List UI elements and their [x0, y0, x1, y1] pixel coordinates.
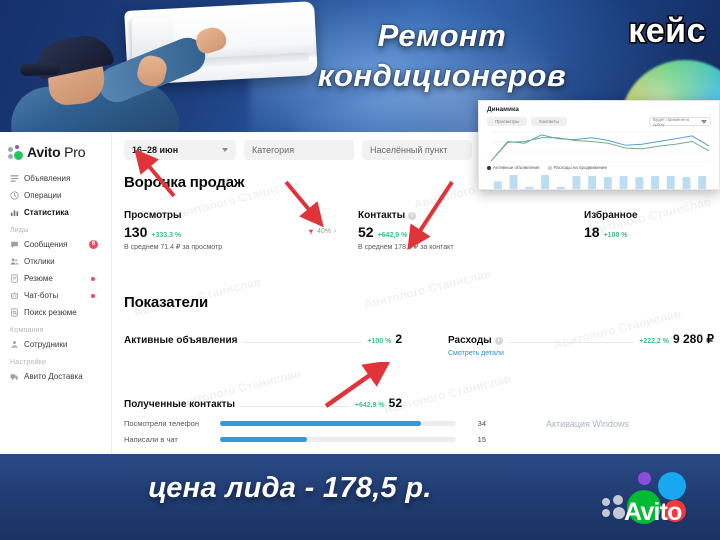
screenshot-root: Ремонт кондиционеров кейс Avito Pro Объя…: [0, 0, 720, 540]
metric-favorites: Избранное 18 +100 %: [584, 210, 714, 240]
sidebar-item-statistika[interactable]: Статистика: [0, 204, 112, 221]
chart-legend: Активные объявления Расходы на продвижен…: [487, 165, 607, 170]
sidebar-item-avito-dostavka[interactable]: Авито Доставка: [0, 368, 112, 385]
breakdown-row-phone: Посмотрели телефон 34: [124, 419, 486, 428]
dynamics-bar-chart: [485, 173, 715, 190]
metric-delta: +642,9 %: [378, 232, 408, 239]
metric-value: 18: [584, 224, 600, 240]
indicator-label: Активные объявления: [124, 335, 237, 346]
indicator-delta: +642,9 %: [355, 402, 385, 409]
clock-icon: [10, 191, 19, 200]
chevron-down-icon: [222, 148, 228, 152]
chart-metric-select[interactable]: Будет применено сразу: [649, 117, 711, 126]
indicator-label: Расходы i: [448, 335, 503, 346]
sidebar-group-settings: Настройки: [0, 353, 112, 368]
indicator-delta: +100 %: [367, 338, 391, 345]
metric-subtext: В среднем 178.5 ₽ за контакт: [358, 243, 578, 251]
period-filter-dropdown[interactable]: 16–28 июн: [124, 140, 236, 160]
info-icon[interactable]: i: [408, 212, 416, 220]
dynamics-chart-panel: Динамика Просмотры Контакты Будет примен…: [478, 100, 720, 190]
avito-logo: Avito: [602, 468, 710, 528]
sidebar-label: Чат-боты: [24, 291, 58, 300]
people-icon: [10, 257, 19, 266]
funnel-heading: Воронка продаж: [124, 174, 244, 191]
conversion-arrow-icon: ›: [334, 228, 336, 235]
breakdown-value: 34: [456, 419, 486, 428]
funnel-icon: [308, 229, 314, 235]
breakdown-row-chat: Написали в чат 15: [124, 435, 486, 444]
filter-bar: 16–28 июн Категория Населённый пункт: [124, 140, 472, 160]
indicator-received-contacts: Полученные контакты +642,9 % 52: [124, 396, 402, 410]
indicator-value: 9 280 ₽: [673, 332, 714, 346]
avito-logo-wordmark: Avito: [624, 498, 682, 527]
chart-tab-contacts[interactable]: Контакты: [531, 117, 567, 126]
case-badge: кейс: [628, 12, 706, 51]
chatbots-notification-dot: [91, 294, 95, 298]
metric-title: Просмотры: [124, 210, 334, 221]
indicator-leader-line: [240, 406, 350, 407]
breakdown-value: 15: [456, 435, 486, 444]
employees-icon: [10, 340, 19, 349]
search-document-icon: [10, 308, 19, 317]
sidebar-label: Отклики: [24, 257, 55, 266]
breakdown-bar-fill: [220, 421, 421, 426]
technician-photo: [0, 0, 300, 132]
sidebar-label: Сообщения: [24, 240, 67, 249]
breakdown-bar-track: [220, 421, 456, 426]
metric-value: 52: [358, 224, 374, 240]
avito-logo-circle-blue: [658, 472, 686, 500]
sidebar-item-otkliki[interactable]: Отклики: [0, 253, 112, 270]
sidebar-nav: Объявления Операции Статистика Лиды Сооб…: [0, 170, 112, 385]
category-filter-placeholder: Категория: [252, 145, 294, 155]
sidebar-item-soobshcheniya[interactable]: Сообщения 6: [0, 236, 112, 253]
conversion-chip[interactable]: 40% ›: [308, 228, 336, 235]
category-filter-dropdown[interactable]: Категория: [244, 140, 354, 160]
legend-item-promo-spend[interactable]: Расходы на продвижение: [548, 165, 607, 170]
sidebar-item-poisk-rezume[interactable]: Поиск резюме: [0, 304, 112, 321]
sidebar-label: Статистика: [24, 208, 69, 217]
period-filter-value: 16–28 июн: [132, 145, 178, 155]
sidebar-label: Сотрудники: [24, 340, 67, 349]
metric-title: Избранное: [584, 210, 714, 221]
legend-dot-icon: [487, 166, 491, 170]
indicator-leader-line: [508, 342, 635, 343]
windows-activation-title: Активация Windows: [546, 418, 629, 430]
sidebar-label: Операции: [24, 191, 61, 200]
indicator-active-ads: Активные объявления +100 % 2: [124, 332, 402, 346]
sidebar: Avito Pro Объявления Операции Статистика…: [0, 132, 112, 454]
list-icon: [10, 174, 19, 183]
sidebar-item-chat-boty[interactable]: Чат-боты: [0, 287, 112, 304]
indicator-value: 52: [389, 396, 402, 410]
metric-delta: +100 %: [604, 232, 628, 239]
legend-label: Активные объявления: [493, 165, 540, 170]
sidebar-item-operacii[interactable]: Операции: [0, 187, 112, 204]
metric-title-text: Избранное: [584, 210, 638, 221]
sidebar-group-company: Компания: [0, 321, 112, 336]
legend-item-active-ads[interactable]: Активные объявления: [487, 165, 540, 170]
sidebar-item-sotrudniki[interactable]: Сотрудники: [0, 336, 112, 353]
delivery-icon: [10, 372, 19, 381]
indicator-expenses: Расходы i +222,2 % 9 280 ₽: [448, 332, 714, 346]
metric-delta: +333.3 %: [151, 232, 181, 239]
sidebar-label: Резюме: [24, 274, 53, 283]
indicator-leader-line: [242, 342, 362, 343]
metric-contacts: Контакты i 52 +642,9 % В среднем 178.5 ₽…: [358, 210, 578, 251]
conversion-value: 40%: [317, 228, 331, 235]
info-icon[interactable]: i: [495, 337, 503, 345]
chat-icon: [10, 240, 19, 249]
avito-logo-dots-icon: [8, 145, 23, 160]
bottom-promo-banner: цена лида - 178,5 р. Avito: [0, 454, 720, 540]
legend-dot-icon: [548, 166, 552, 170]
watermark: Авитолого Станислав: [362, 266, 492, 311]
chart-panel-title: Динамика: [487, 106, 519, 113]
sidebar-group-leads: Лиды: [0, 221, 112, 236]
metric-title: Контакты i: [358, 210, 578, 221]
messages-badge-count: 6: [89, 240, 98, 249]
sidebar-item-objavleniya[interactable]: Объявления: [0, 170, 112, 187]
legend-label: Расходы на продвижение: [554, 165, 607, 170]
robot-icon: [10, 291, 19, 300]
avito-pro-wordmark: Avito Pro: [27, 144, 85, 160]
chevron-down-icon: [701, 120, 707, 124]
sidebar-label: Объявления: [24, 174, 70, 183]
metric-value: 130: [124, 224, 147, 240]
indicator-value: 2: [395, 332, 402, 346]
bar-chart-icon: [10, 208, 19, 217]
sidebar-label: Поиск резюме: [24, 308, 77, 317]
breakdown-label: Посмотрели телефон: [124, 419, 220, 428]
document-icon: [10, 274, 19, 283]
location-filter-placeholder: Населённый пункт: [370, 145, 447, 155]
indicators-heading: Показатели: [124, 294, 208, 311]
indicator-delta: +222,2 %: [639, 338, 669, 345]
avito-logo-grey-dots-icon: [602, 498, 626, 518]
metric-title-text: Просмотры: [124, 210, 182, 221]
lead-price-text: цена лида - 178,5 р.: [0, 472, 580, 505]
windows-activation-watermark: Активация Windows: [546, 418, 629, 430]
rezume-notification-dot: [91, 277, 95, 281]
promo-headline-line2: кондиционеров: [292, 56, 592, 96]
indicator-label: Полученные контакты: [124, 399, 235, 410]
breakdown-label: Написали в чат: [124, 435, 220, 444]
chart-metric-select-value: Будет применено сразу: [653, 117, 701, 127]
avito-logo-circle-purple: [638, 472, 651, 485]
promo-headline-line1: Ремонт: [378, 18, 507, 53]
breakdown-bar-fill: [220, 437, 307, 442]
expenses-details-link[interactable]: Смотреть детали: [448, 350, 504, 357]
dynamics-line-chart: [485, 129, 715, 165]
metric-views: Просмотры 130 +333.3 % В среднем 71.4 ₽ …: [124, 210, 334, 251]
avito-pro-logo[interactable]: Avito Pro: [8, 144, 85, 160]
indicator-label-text: Расходы: [448, 335, 492, 346]
sidebar-label: Авито Доставка: [24, 372, 83, 381]
location-filter-dropdown[interactable]: Населённый пункт: [362, 140, 472, 160]
promo-headline: Ремонт кондиционеров: [292, 16, 592, 96]
metric-subtext: В среднем 71.4 ₽ за просмотр: [124, 243, 334, 251]
sidebar-item-rezume[interactable]: Резюме: [0, 270, 112, 287]
breakdown-bar-track: [220, 437, 456, 442]
metric-title-text: Контакты: [358, 210, 405, 221]
chart-tab-views[interactable]: Просмотры: [487, 117, 527, 126]
